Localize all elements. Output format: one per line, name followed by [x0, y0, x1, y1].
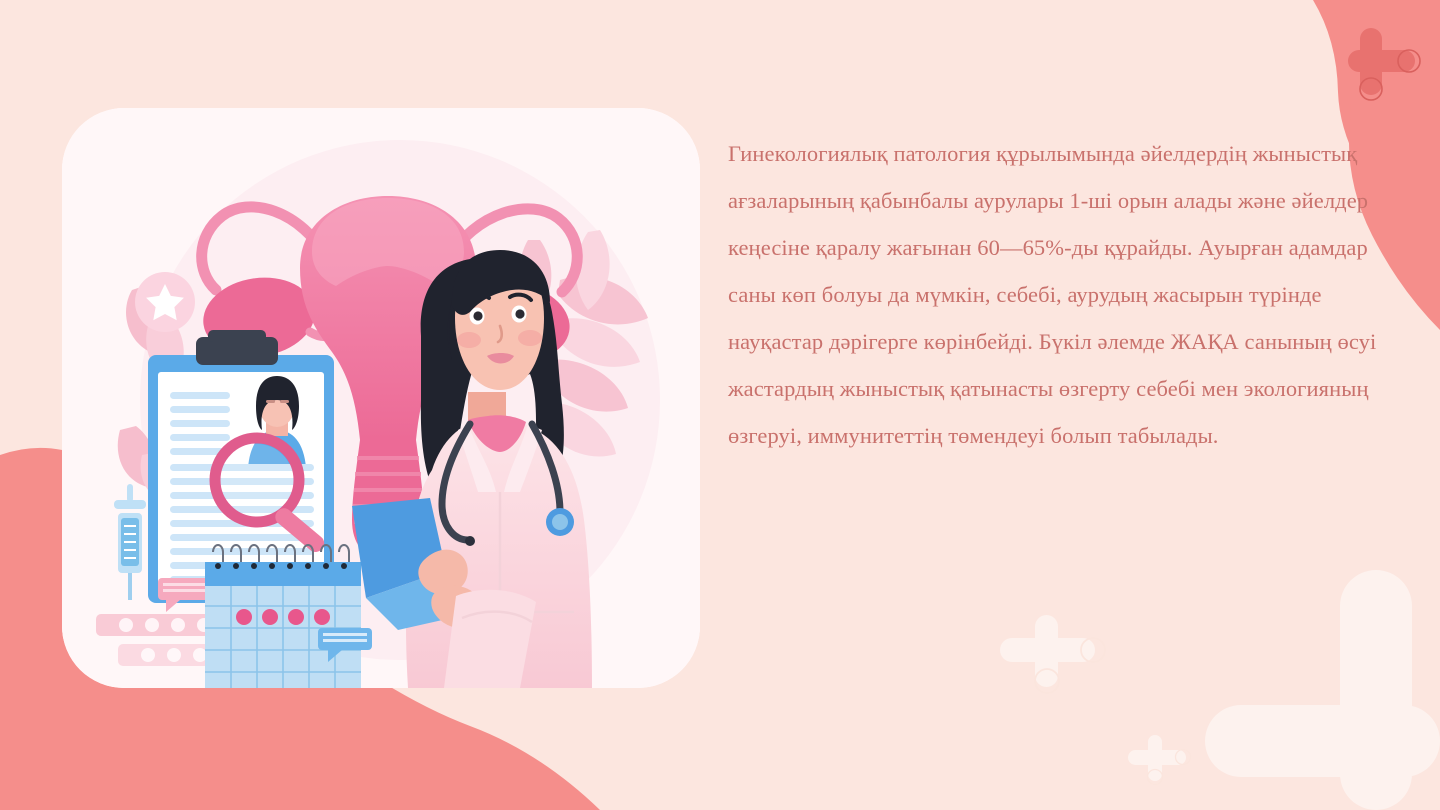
calendar [205, 545, 361, 696]
slide-canvas: Гинекологиялық патология құрылымында әйе… [0, 0, 1440, 810]
slide-body-text: Гинекологиялық патология құрылымында әйе… [728, 130, 1388, 459]
star-badge [135, 272, 195, 332]
